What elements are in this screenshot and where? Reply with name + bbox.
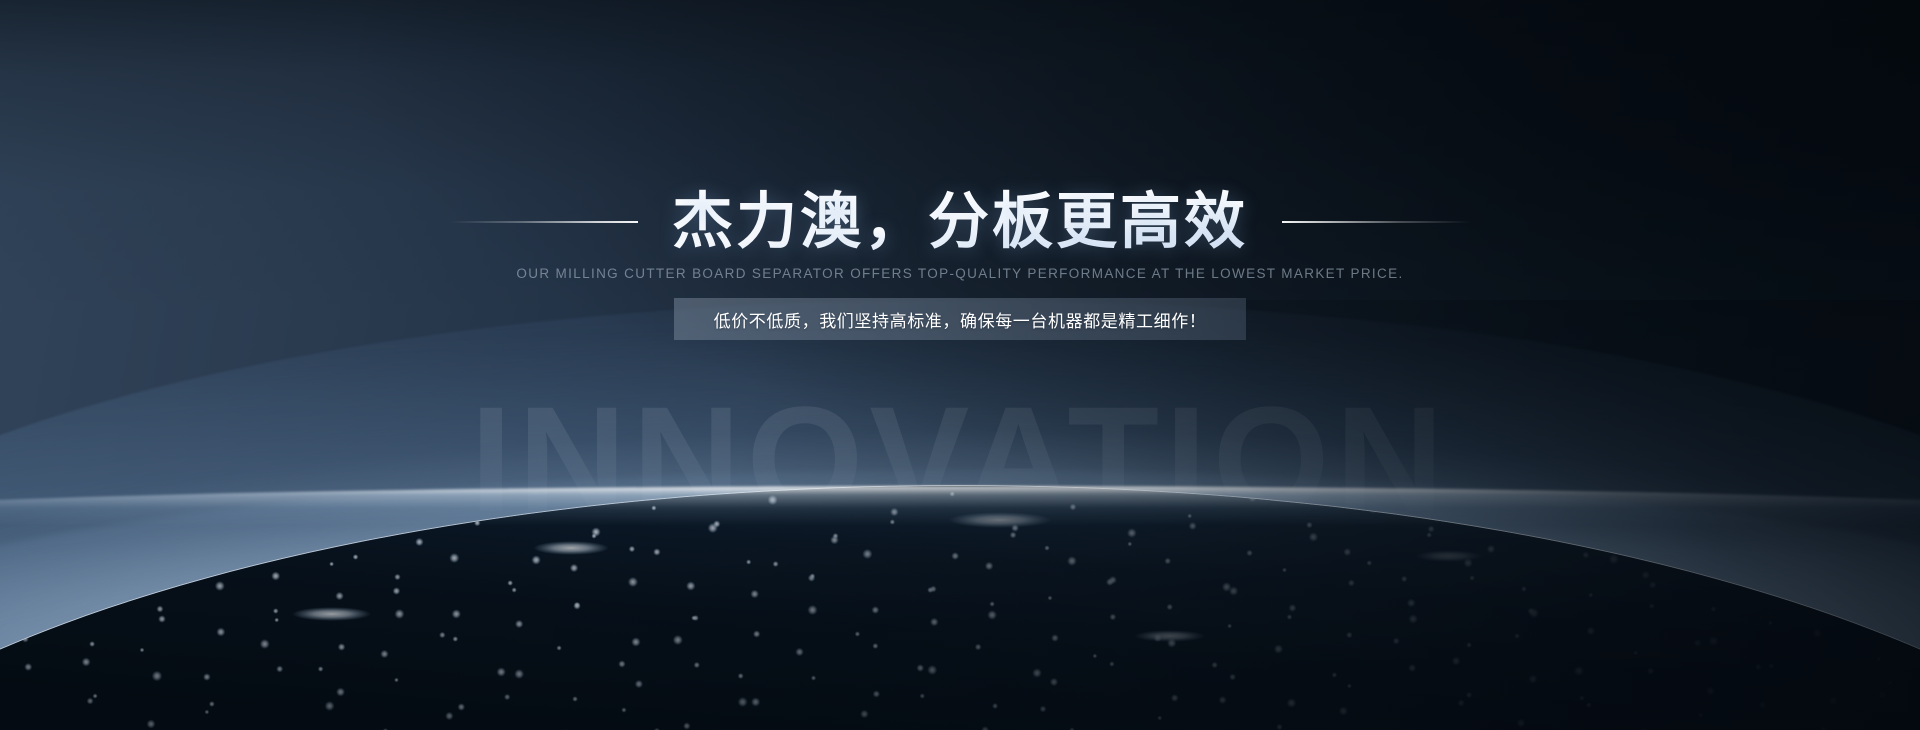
rule-left-decoration (450, 221, 638, 223)
tagline-text: OUR MILLING CUTTER BOARD SEPARATOR OFFER… (0, 266, 1920, 281)
rule-right-decoration (1282, 221, 1470, 223)
page-title: 杰力澳，分板更高效 (672, 189, 1248, 255)
slogan-bar: 低价不低质，我们坚持高标准，确保每一台机器都是精工细作！ (674, 298, 1246, 340)
hero-banner: INNOVATION (0, 0, 1920, 730)
sky-right-vignette (0, 0, 1920, 730)
slogan-text: 低价不低质，我们坚持高标准，确保每一台机器都是精工细作！ (714, 307, 1207, 332)
